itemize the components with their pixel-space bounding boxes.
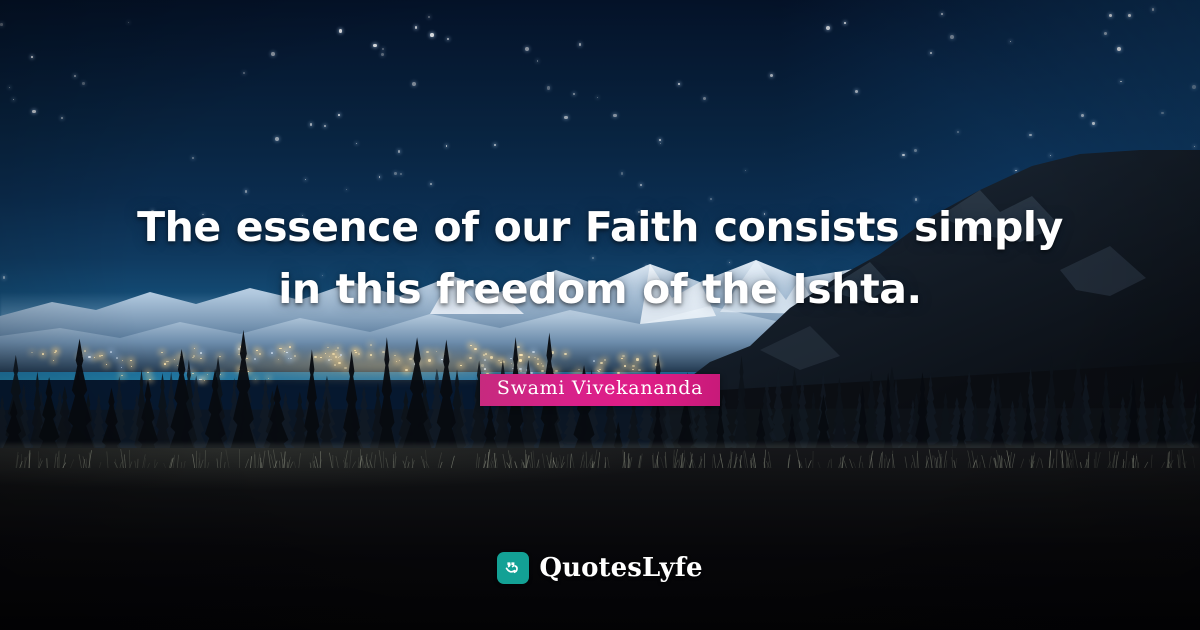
star: [930, 52, 932, 54]
star: [430, 183, 432, 185]
grass-blade: [533, 451, 535, 468]
grass-blade: [972, 451, 975, 469]
grass-blade: [713, 456, 714, 468]
grass-blade: [1036, 457, 1039, 468]
grass-blade: [440, 462, 442, 468]
star: [192, 157, 194, 159]
grass-blade: [808, 460, 811, 468]
grass-blade: [386, 458, 388, 468]
grass-blade: [379, 450, 382, 468]
grass-blade: [154, 459, 155, 468]
star: [525, 47, 529, 51]
brand-logo[interactable]: QuotesLyfe: [0, 552, 1200, 584]
quote-card: The essence of our Faith consists simply…: [0, 0, 1200, 630]
star: [446, 145, 448, 147]
grass-blade: [181, 462, 182, 468]
star: [941, 13, 943, 15]
grass-blade: [79, 454, 81, 468]
grass-blade: [99, 462, 101, 468]
grass-blade: [294, 461, 296, 468]
grass-blade: [955, 458, 957, 468]
grass-blade: [290, 462, 293, 468]
grass-blade: [496, 457, 498, 468]
grass-blade: [862, 462, 863, 468]
grass-blade: [1136, 454, 1138, 468]
grass-blade: [1116, 452, 1119, 468]
grass-blade: [558, 461, 559, 468]
star: [1104, 32, 1107, 35]
grass-blade: [395, 452, 396, 468]
grass-blade: [717, 458, 720, 468]
grass-blade: [661, 457, 664, 468]
grass-blade: [1193, 456, 1195, 468]
grass-blade: [220, 452, 221, 468]
grass-blade: [818, 462, 820, 468]
grass-blade: [699, 459, 702, 468]
foreground-meadow: [0, 448, 1200, 630]
grass-blade: [1056, 449, 1057, 468]
grass-blade: [626, 457, 628, 469]
grass-blade: [284, 452, 285, 469]
grass-blade: [844, 461, 846, 468]
star: [398, 150, 401, 153]
grass-blade: [310, 463, 311, 469]
star: [579, 43, 582, 46]
grass-blade: [1162, 462, 1165, 468]
grass-blade: [553, 458, 554, 469]
grass-blade: [1097, 452, 1100, 468]
grass-blade: [24, 457, 27, 469]
star: [74, 75, 76, 77]
grass-blade: [769, 452, 771, 468]
grass-blade: [426, 450, 427, 468]
grass-blade: [352, 461, 355, 468]
grass-blade: [728, 459, 730, 468]
grass-blade: [1182, 450, 1185, 468]
grass-blade: [1126, 451, 1128, 468]
grass-blade: [586, 452, 587, 468]
grass-blade: [193, 454, 195, 468]
grass-blade: [350, 450, 352, 468]
grass-blade: [720, 454, 723, 468]
star: [271, 52, 275, 56]
grass-blade: [1004, 459, 1006, 468]
grass-blade: [850, 459, 853, 468]
grass-blade: [581, 455, 584, 468]
star: [957, 131, 959, 133]
author-badge: Swami Vivekananda: [480, 374, 720, 406]
grass-blade: [21, 454, 22, 468]
grass-blade: [184, 461, 185, 468]
grass-blade: [1052, 459, 1054, 469]
star: [428, 16, 429, 17]
star: [703, 97, 706, 100]
star: [339, 29, 343, 33]
grass-blade: [879, 453, 882, 468]
star: [597, 97, 599, 99]
grass-blade: [124, 454, 125, 468]
grass-blade: [1012, 454, 1015, 468]
grass-blade: [476, 453, 478, 468]
grass-blade: [251, 456, 252, 468]
star: [447, 38, 449, 40]
grass-blade: [608, 457, 610, 468]
grass-blade: [312, 453, 314, 468]
star: [660, 143, 661, 144]
grass-blade: [989, 456, 991, 468]
grass-blade: [531, 452, 533, 468]
grass-blade: [263, 451, 265, 468]
grass-blade: [1041, 459, 1043, 469]
grass-blade: [542, 454, 544, 468]
grass-blade: [1021, 459, 1024, 468]
grass-blade: [254, 452, 255, 468]
grass-blade: [315, 456, 318, 468]
grass-blade: [567, 454, 568, 468]
star: [0, 23, 3, 26]
author-row: Swami Vivekananda: [0, 374, 1200, 406]
grass-blade: [882, 452, 883, 468]
star: [1092, 122, 1094, 124]
grass-blade: [258, 454, 260, 468]
grass-blade: [366, 457, 368, 468]
star: [373, 44, 377, 48]
grass-blade: [1081, 462, 1082, 468]
star: [573, 93, 575, 95]
grass-blade: [1109, 451, 1110, 468]
grass-blade: [226, 450, 229, 469]
grass-blade: [217, 459, 218, 469]
grass-blade: [503, 454, 506, 468]
grass-blade: [120, 462, 122, 468]
quote-text: The essence of our Faith consists simply…: [120, 196, 1080, 321]
grass-blade: [553, 460, 556, 468]
star: [564, 116, 568, 120]
grass-blade: [208, 462, 209, 468]
grass-blade: [224, 462, 225, 468]
grass-blade: [1178, 455, 1179, 469]
grass-blade: [560, 455, 562, 468]
grass-blade: [374, 455, 375, 468]
grass-blade: [598, 452, 600, 468]
grass-blade: [1000, 455, 1001, 468]
grass-blade: [1151, 455, 1152, 468]
star: [338, 114, 340, 116]
grass-blade: [1135, 456, 1137, 468]
grass-blade: [286, 459, 287, 468]
grass-blade: [1074, 450, 1077, 468]
star: [770, 74, 773, 77]
star: [1192, 85, 1196, 89]
grass-blade: [205, 450, 206, 468]
grass-blade: [273, 450, 276, 468]
brand-name: QuotesLyfe: [539, 555, 702, 581]
star: [1128, 14, 1131, 17]
grass-blade: [129, 450, 130, 468]
grass-blade: [806, 458, 807, 468]
grass-blade: [451, 456, 454, 468]
grass-blade: [859, 456, 861, 468]
grass-blade: [329, 453, 332, 468]
star: [400, 173, 402, 175]
grass-blade: [268, 450, 270, 468]
grass-blade: [38, 451, 39, 468]
grass-blade: [934, 456, 936, 469]
grass-blade: [605, 457, 606, 468]
grass-blade: [521, 462, 522, 468]
star: [31, 56, 33, 58]
grass-blade: [686, 460, 689, 468]
grass-blade: [271, 454, 274, 468]
grass-blade: [201, 460, 204, 468]
grass-blade: [547, 455, 550, 468]
grass-blade: [556, 457, 557, 468]
grass-blade: [155, 462, 158, 468]
grass-blade: [594, 450, 597, 468]
grass-blade: [173, 455, 175, 468]
grass-blade: [177, 455, 178, 468]
grass-blade: [911, 462, 912, 468]
grass-blade: [754, 458, 755, 468]
quote-smiley-icon: [497, 552, 529, 584]
grass-blade: [954, 460, 956, 468]
grass-blade: [529, 460, 531, 468]
grass-blade: [515, 461, 517, 468]
grass-blade: [426, 461, 429, 468]
grass-blade: [982, 455, 985, 468]
grass-blade: [905, 457, 907, 468]
star: [245, 190, 247, 192]
grass-blade: [572, 454, 575, 468]
grass-blade: [288, 457, 291, 468]
star: [82, 82, 85, 85]
grass-blade: [968, 461, 969, 468]
grass-blade: [479, 457, 480, 468]
quote-block: The essence of our Faith consists simply…: [0, 196, 1200, 321]
grass-blade: [570, 454, 571, 468]
star: [547, 86, 550, 89]
grass-blade: [336, 456, 338, 468]
star: [356, 143, 357, 144]
grass-blade: [591, 455, 592, 468]
star: [394, 172, 397, 175]
grass-blade: [148, 463, 150, 468]
grass-blade: [70, 459, 73, 468]
grass-blade: [299, 453, 301, 468]
grass-blade: [673, 450, 674, 468]
star: [430, 33, 434, 37]
grass-blade: [107, 451, 108, 468]
grass-blade: [260, 452, 263, 468]
grass-blade: [946, 460, 947, 468]
star: [621, 172, 623, 174]
grass-blade: [973, 461, 976, 469]
grass-blade: [245, 459, 248, 468]
star: [243, 72, 245, 74]
grass-blade: [164, 463, 166, 468]
grass-blade: [714, 454, 716, 468]
grass-blade: [828, 460, 830, 468]
grass-blade: [853, 462, 855, 468]
grass-blade: [55, 454, 57, 468]
star: [382, 48, 384, 50]
grass-blade: [135, 461, 136, 468]
grass-blade: [1129, 461, 1130, 468]
grass-blade: [1145, 462, 1148, 468]
